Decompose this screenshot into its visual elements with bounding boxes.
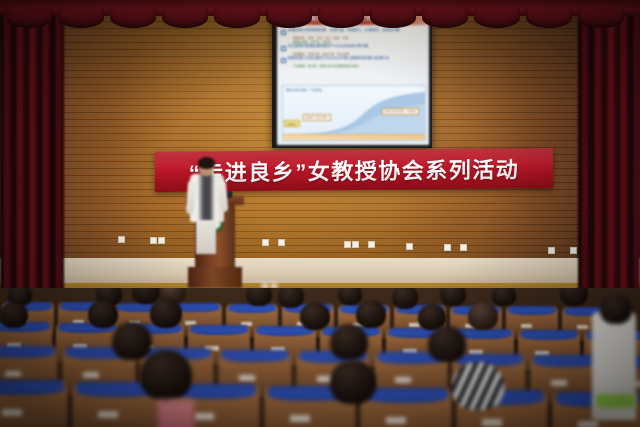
bullet-marker-icon xyxy=(281,30,286,35)
chart-tag-left: 价值拐点 xyxy=(284,120,300,127)
seat-number-plate xyxy=(386,417,406,424)
seat-number-plate xyxy=(239,375,255,381)
audience-member-head xyxy=(338,288,362,305)
audience-member-head xyxy=(150,298,182,328)
audience-member-head xyxy=(428,326,466,362)
audience-member-head xyxy=(468,302,498,330)
lectern-base xyxy=(188,267,242,288)
wall-panel xyxy=(262,239,269,246)
audience-member-head xyxy=(356,300,386,328)
valance-scallop xyxy=(110,8,156,28)
valance-scallop xyxy=(266,8,312,28)
valance-scallop xyxy=(6,8,52,28)
standing-attendee-head xyxy=(600,294,632,324)
slide-bullet: 数据资源行业知识服务平台对企业中核心数据资源采集与处理平台 xyxy=(281,56,425,63)
audience-member-head xyxy=(88,300,118,328)
wall-panel xyxy=(344,241,351,248)
seat-number-plate xyxy=(395,377,411,383)
audience-member-torso xyxy=(158,400,194,427)
audience-member-head xyxy=(246,288,272,306)
presenter-lower-body xyxy=(196,220,216,254)
wall-panel xyxy=(406,243,413,250)
wall-panel xyxy=(570,247,577,254)
wall-panel xyxy=(158,237,165,244)
seat xyxy=(0,380,68,427)
valance-scallop xyxy=(474,8,520,28)
seat-number-plate xyxy=(83,372,99,378)
valance-scallop xyxy=(58,8,104,28)
presenter-hair xyxy=(198,157,215,169)
right-curtain xyxy=(578,0,640,300)
wall-panel xyxy=(278,239,285,246)
wall-panel xyxy=(118,236,125,243)
chart-axis-band xyxy=(283,134,425,140)
seat-number-plate xyxy=(578,421,598,427)
audience-member-head xyxy=(0,302,28,328)
audience-member-striped-hat xyxy=(452,362,504,410)
audience-member-head xyxy=(560,288,588,306)
wall-panel xyxy=(548,247,555,254)
seat-number-plate xyxy=(577,325,588,329)
seat-number-plate xyxy=(194,413,214,420)
seat-number-plate xyxy=(482,419,502,426)
seat-number-plate xyxy=(290,415,310,422)
wall-panel xyxy=(368,241,375,248)
seat-number-plate xyxy=(551,380,567,386)
auditorium-photo: 知识数据的价值化是根本 数据资源主体的数据采集、存储与量、转换能力、价值规范、标… xyxy=(0,0,640,427)
seat-number-plate xyxy=(2,409,22,416)
slide-bullet-list: 数据资源主体的数据采集、存储与量、转换能力、价值规范、标准化问题 数据采集 · … xyxy=(281,28,425,68)
audience-member-head xyxy=(300,302,330,330)
seat-number-plate xyxy=(5,371,21,377)
audience-member-head xyxy=(330,360,376,404)
audience-member-head xyxy=(330,324,368,360)
valance-scallop xyxy=(526,8,572,28)
audience-area xyxy=(0,288,640,427)
audience-member-head xyxy=(440,288,466,306)
bullet-text: 数据资源主体的数据采集、存储与量、转换能力、价值规范、标准化问题 xyxy=(288,28,400,33)
seat-number-plate xyxy=(98,411,118,418)
wall-panel xyxy=(460,244,467,251)
slide-bullet: 数据资源主体的数据采集、存储与量、转换能力、价值规范、标准化问题 xyxy=(281,28,425,35)
bullet-text: 知识管理中数据资源数据资产行企业标准资识界问题 xyxy=(288,44,368,49)
wall-panel xyxy=(150,237,157,244)
slide-chart: 数据价值增长曲线 · 产业成熟度 数据资产化起步阶段 数据价值化成熟期，价值释放… xyxy=(282,85,426,141)
audience-member-head xyxy=(278,288,304,308)
wall-panel xyxy=(352,241,359,248)
audience-member-head xyxy=(492,288,516,306)
valance-scallop xyxy=(162,8,208,28)
bullet-text: 数据资源行业知识服务平台对企业中核心数据资源采集与处理平台 xyxy=(288,56,389,61)
event-banner-text: “走进良乡”女教授协会系列活动 xyxy=(189,152,520,187)
valance-scallop xyxy=(370,8,416,28)
standing-attendee-bag xyxy=(596,394,636,408)
left-curtain xyxy=(0,0,64,300)
valance-scallop xyxy=(214,8,260,28)
audience-member-head xyxy=(112,322,152,360)
valance-scallop xyxy=(318,8,364,28)
valance-scallop xyxy=(578,8,624,28)
seat-number-plate xyxy=(521,324,532,328)
chart-callout-right: 数据价值化成熟期，价值释放 xyxy=(382,108,419,115)
audience-member-head xyxy=(392,288,418,309)
valance-scallop xyxy=(422,8,468,28)
wall-panel xyxy=(444,244,451,251)
bullet-marker-icon xyxy=(281,58,286,63)
bullet-marker-icon xyxy=(281,46,286,51)
slide-bullet: 知识管理中数据资源数据资产行企业标准资识界问题 xyxy=(281,44,425,51)
audience-member-head xyxy=(140,350,192,400)
chart-callout-left: 数据资产化起步阶段 xyxy=(303,114,331,121)
bullet-subtext: 产业数据 · 知识库 · 智能分析与开放服务能力建设 xyxy=(293,64,425,68)
